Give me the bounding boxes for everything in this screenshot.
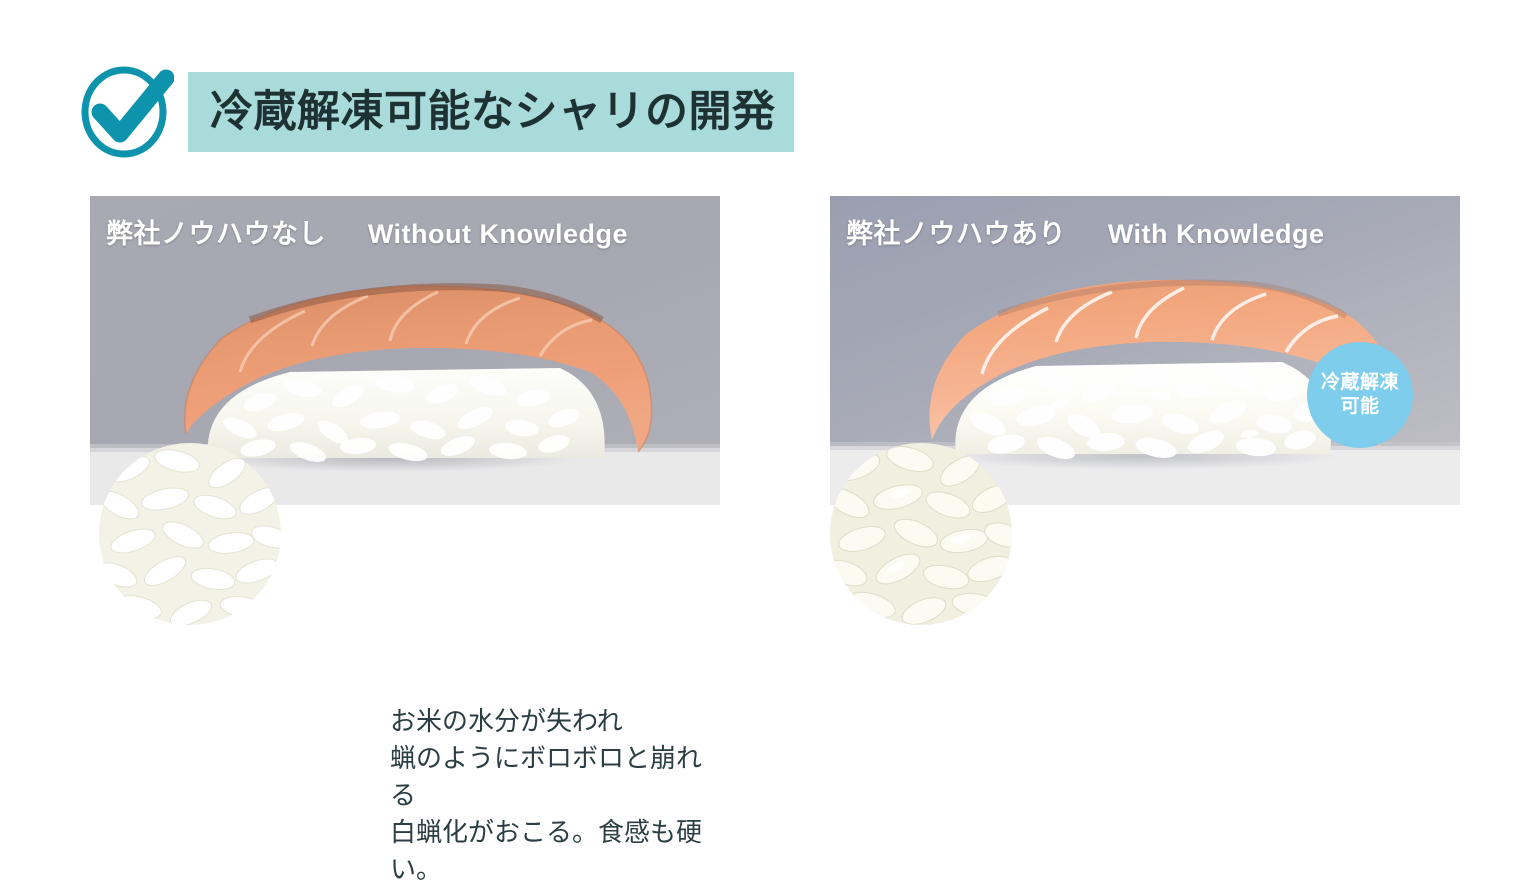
panel-without-knowledge: 弊社ノウハウなし Without Knowledge bbox=[90, 196, 720, 505]
check-circle-icon bbox=[78, 62, 174, 162]
badge-line-1: 冷蔵解凍 bbox=[1321, 371, 1399, 395]
title-banner: 冷蔵解凍可能なシャリの開発 bbox=[188, 72, 794, 152]
photo-label-without-knowledge: 弊社ノウハウなし Without Knowledge bbox=[106, 212, 628, 251]
badge-line-2: 可能 bbox=[1340, 395, 1379, 419]
rice-inset-without-knowledge bbox=[99, 443, 281, 625]
photo-label-with-knowledge: 弊社ノウハウあり With Knowledge bbox=[846, 212, 1325, 251]
photo-label-en: Without Knowledge bbox=[368, 219, 628, 249]
page-title: 冷蔵解凍可能なシャリの開発 bbox=[210, 91, 776, 134]
page-header: 冷蔵解凍可能なシャリの開発 bbox=[78, 62, 794, 162]
panel-with-knowledge: 弊社ノウハウあり With Knowledge 冷蔵解凍 可能 bbox=[830, 196, 1460, 505]
photo-label-jp: 弊社ノウハウあり bbox=[846, 219, 1066, 250]
caption-without-knowledge: お米の水分が失われ 蝋のようにボロボロと崩れる 白蝋化がおこる。食感も硬い。 bbox=[390, 704, 720, 889]
status-badge-refrigerated-thaw: 冷蔵解凍 可能 bbox=[1307, 342, 1413, 448]
photo-label-jp: 弊社ノウハウなし bbox=[106, 219, 326, 250]
photo-label-en: With Knowledge bbox=[1108, 219, 1325, 249]
rice-inset-with-knowledge bbox=[830, 443, 1012, 625]
